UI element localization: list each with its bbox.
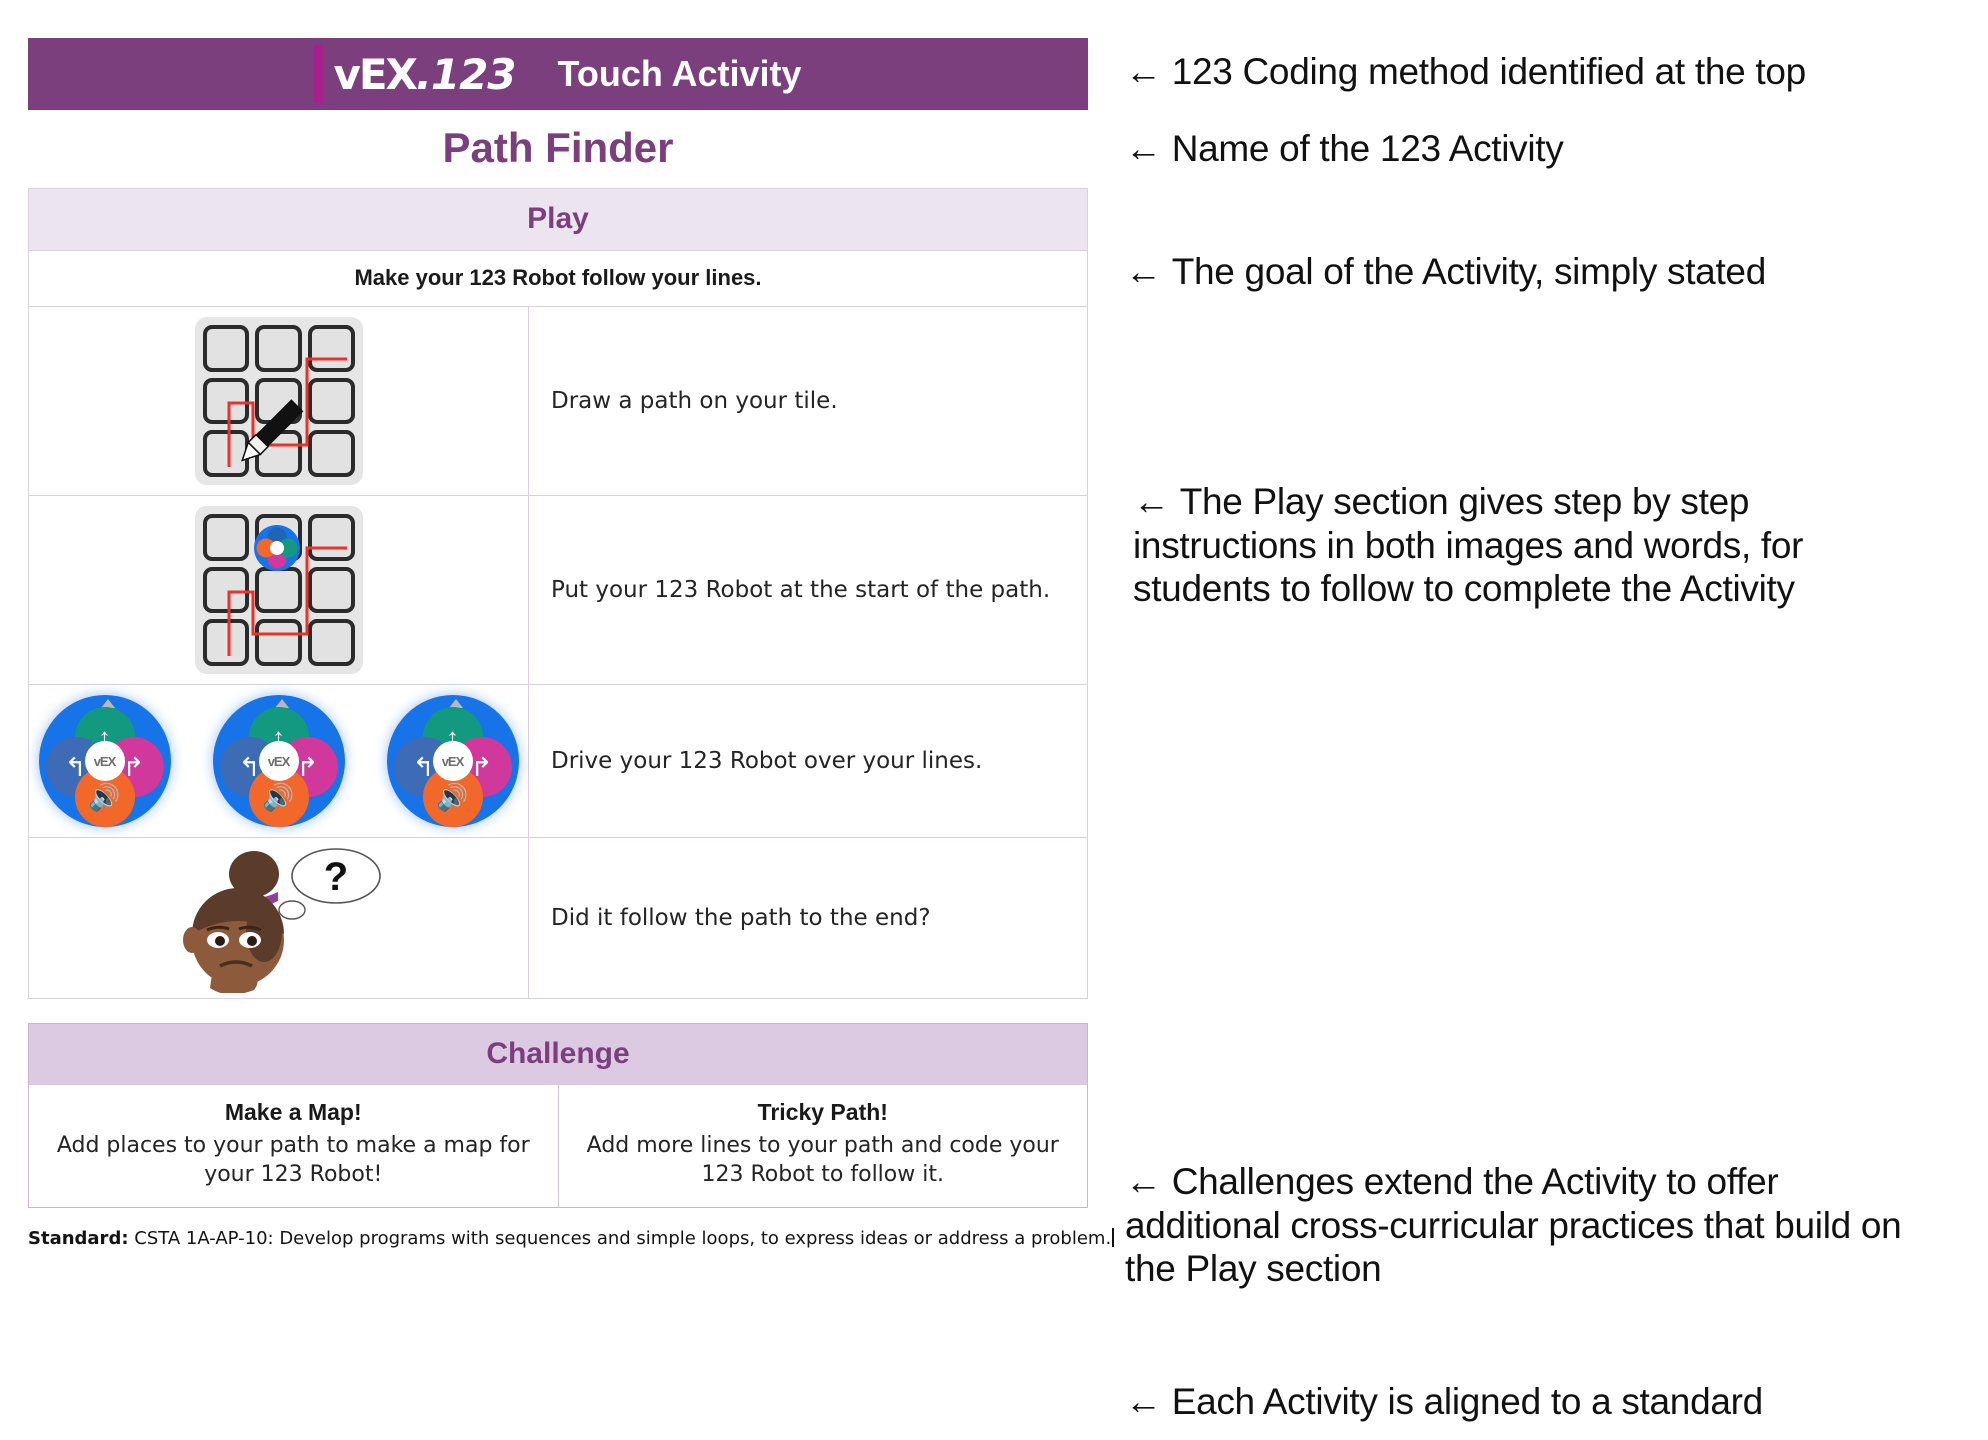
challenge-2-body: Add more lines to your path and code you… <box>581 1132 1066 1189</box>
step-1-text: Draw a path on your tile. <box>529 307 1087 495</box>
annotation-coding-method: ←123 Coding method identified at the top <box>1125 50 1955 94</box>
robot-center-label: vEX <box>433 741 473 781</box>
play-section-header: Play <box>28 188 1088 250</box>
coding-method-title: Touch Activity <box>558 53 802 95</box>
logo-accent-bar <box>314 45 323 103</box>
pencil-icon <box>195 317 363 485</box>
annotation-challenge: ←Challenges extend the Activity to offer… <box>1125 1160 1925 1291</box>
tile-grid-icon <box>195 506 363 674</box>
robot-button-group: ↑ ↰ ↱ 🔊 vEX ↑ ↰ ↱ 🔊 vEX <box>39 695 519 827</box>
left-arrow-icon: ← <box>1125 128 1162 169</box>
tile-grid-icon <box>195 317 363 485</box>
annotation-play-section: ←The Play section gives step by step ins… <box>1133 480 1923 611</box>
left-arrow-icon: ← <box>1125 1161 1162 1202</box>
robot-center-label: vEX <box>85 741 125 781</box>
standard-line: Standard: CSTA 1A-AP-10: Develop program… <box>28 1228 1088 1249</box>
play-step-row: Put your 123 Robot at the start of the p… <box>29 496 1087 685</box>
annotation-text: The goal of the Activity, simply stated <box>1172 251 1766 292</box>
logo-vex-text: vEX <box>333 50 415 99</box>
play-step-row: ↑ ↰ ↱ 🔊 vEX ↑ ↰ ↱ 🔊 vEX <box>29 685 1087 838</box>
left-arrow-icon: ← <box>1125 1381 1162 1422</box>
step-3-media: ↑ ↰ ↱ 🔊 vEX ↑ ↰ ↱ 🔊 vEX <box>29 685 529 837</box>
activity-goal: Make your 123 Robot follow your lines. <box>28 250 1088 307</box>
challenge-1-title: Make a Map! <box>51 1099 536 1126</box>
step-3-text: Drive your 123 Robot over your lines. <box>529 685 1087 837</box>
left-arrow-icon: ← <box>1125 251 1162 292</box>
logo-number-text: .123 <box>416 50 516 99</box>
challenge-2-title: Tricky Path! <box>581 1099 1066 1126</box>
vex-123-logo: vEX.123 <box>314 45 515 103</box>
challenge-item: Make a Map! Add places to your path to m… <box>29 1085 558 1207</box>
step-4-text: Did it follow the path to the end? <box>529 838 1087 998</box>
step-4-media: ? <box>29 838 529 998</box>
play-step-row: ? <box>29 838 1087 998</box>
play-steps-table: Draw a path on your tile. <box>28 307 1088 999</box>
play-step-row: Draw a path on your tile. <box>29 307 1087 496</box>
annotation-activity-name: ←Name of the 123 Activity <box>1125 127 1955 171</box>
card-header: vEX.123 Touch Activity <box>28 38 1088 110</box>
robot-button-icon: ↑ ↰ ↱ 🔊 vEX <box>39 695 171 827</box>
step-1-media <box>29 307 529 495</box>
vex-activity-card: vEX.123 Touch Activity Path Finder Play … <box>28 38 1088 1249</box>
text-cursor <box>1112 1228 1114 1247</box>
challenge-item: Tricky Path! Add more lines to your path… <box>558 1085 1088 1207</box>
thinking-face-icon: ? <box>164 848 394 988</box>
left-arrow-icon: ← <box>1125 51 1162 92</box>
left-arrow-icon: ← <box>1133 481 1170 522</box>
step-2-media <box>29 496 529 684</box>
standard-text: CSTA 1A-AP-10: Develop programs with seq… <box>134 1228 1111 1249</box>
annotation-text: Challenges extend the Activity to offer … <box>1125 1161 1901 1289</box>
annotation-text: 123 Coding method identified at the top <box>1172 51 1806 92</box>
challenge-body: Make a Map! Add places to your path to m… <box>28 1085 1088 1208</box>
challenge-1-body: Add places to your path to make a map fo… <box>51 1132 536 1189</box>
page-root: vEX.123 Touch Activity Path Finder Play … <box>0 0 1988 1440</box>
svg-text:?: ? <box>323 855 347 899</box>
robot-center-label: vEX <box>259 741 299 781</box>
annotation-goal: ←The goal of the Activity, simply stated <box>1125 250 1955 294</box>
robot-token-icon <box>253 524 301 572</box>
standard-label: Standard: <box>28 1228 129 1249</box>
annotation-text: Name of the 123 Activity <box>1172 128 1564 169</box>
annotation-standard: ←Each Activity is aligned to a standard <box>1125 1380 1955 1424</box>
challenge-section-header: Challenge <box>28 1023 1088 1085</box>
robot-button-icon: ↑ ↰ ↱ 🔊 vEX <box>387 695 519 827</box>
step-2-text: Put your 123 Robot at the start of the p… <box>529 496 1087 684</box>
challenge-section: Challenge Make a Map! Add places to your… <box>28 1023 1088 1208</box>
annotation-text: Each Activity is aligned to a standard <box>1172 1381 1763 1422</box>
annotation-text: The Play section gives step by step inst… <box>1133 481 1803 609</box>
robot-button-icon: ↑ ↰ ↱ 🔊 vEX <box>213 695 345 827</box>
activity-title: Path Finder <box>28 110 1088 188</box>
logo-text: vEX.123 <box>333 50 515 99</box>
